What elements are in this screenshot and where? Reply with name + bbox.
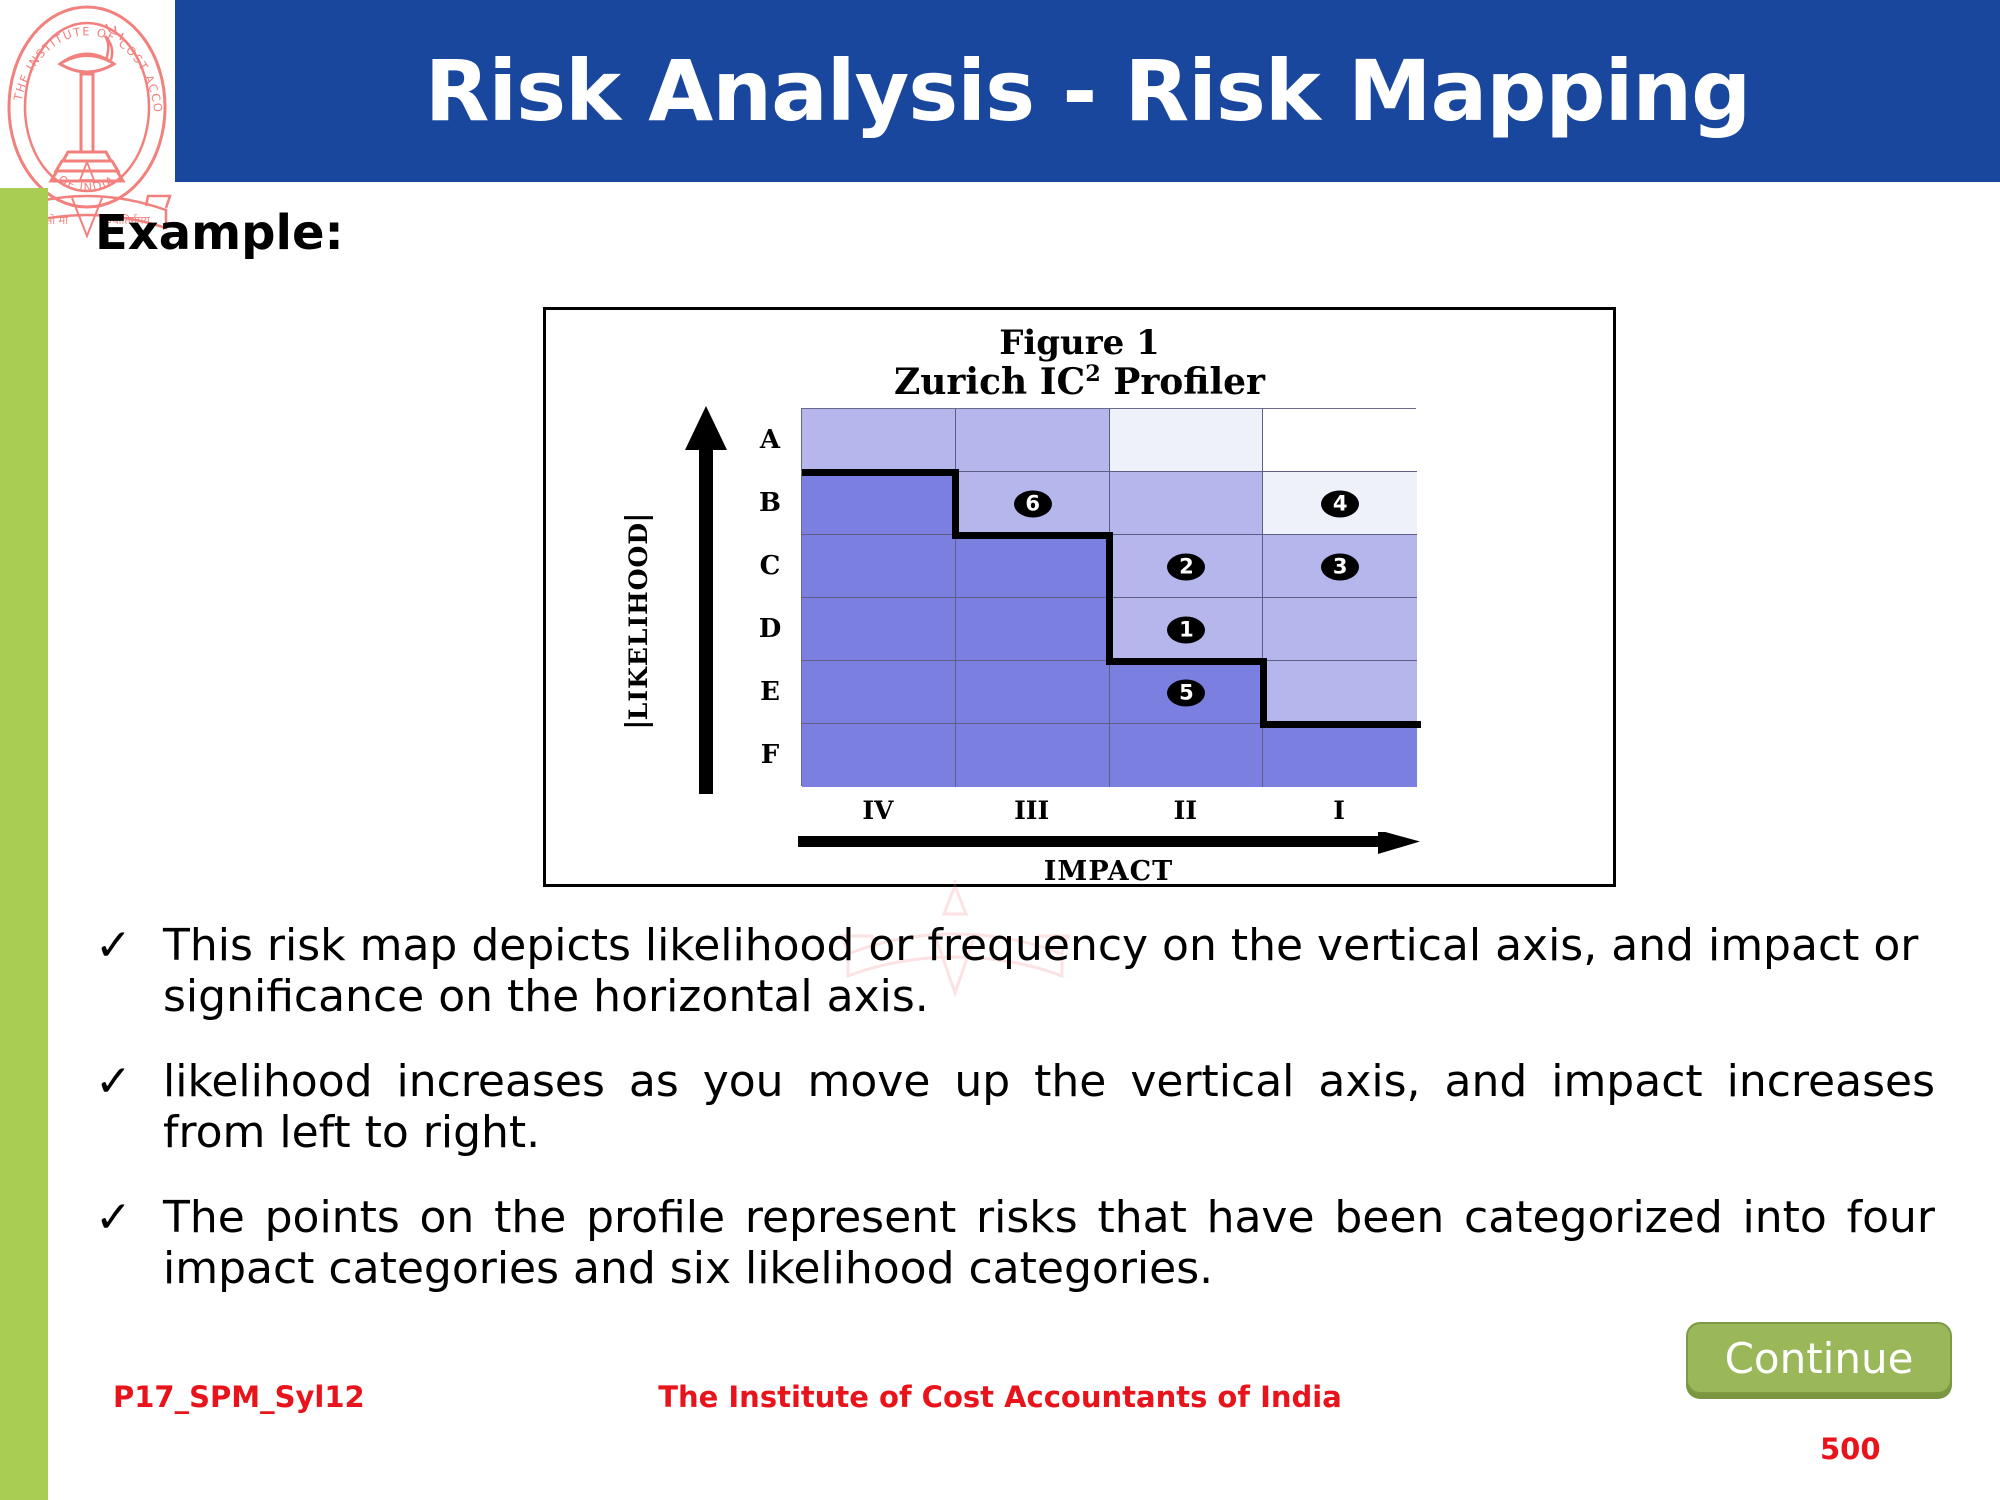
- row-label-C: C: [746, 534, 794, 597]
- matrix-cell-B-IV: [802, 472, 956, 535]
- risk-marker-2: 2: [1167, 553, 1205, 580]
- slide-header-bar: Risk Analysis - Risk Mapping: [175, 0, 2000, 182]
- figure-title: Figure 1 Zurich IC2 Profiler: [546, 324, 1613, 402]
- likelihood-row-labels: ABCDEF: [746, 408, 794, 786]
- x-axis-label: IMPACT: [801, 856, 1416, 887]
- profile-line-horizontal: [802, 469, 959, 476]
- profile-line-horizontal: [1110, 658, 1267, 665]
- matrix-cell-C-III: [956, 535, 1110, 598]
- figure-title-line2-pre: Zurich IC: [894, 361, 1085, 403]
- footer-institute-name: The Institute of Cost Accountants of Ind…: [0, 1380, 2000, 1414]
- row-label-D: D: [746, 597, 794, 660]
- svg-text:OF INDIA: OF INDIA: [56, 172, 118, 194]
- impact-axis-arrow-icon: [798, 832, 1420, 854]
- risk-marker-3: 3: [1321, 553, 1359, 580]
- matrix-cell-A-I: [1263, 409, 1417, 472]
- check-icon: ✓: [95, 920, 163, 1022]
- matrix-cell-F-III: [956, 724, 1110, 787]
- matrix-cell-A-II: [1110, 409, 1264, 472]
- row-label-A: A: [746, 408, 794, 471]
- column-label-III: III: [955, 790, 1109, 830]
- risk-marker-4: 4: [1321, 490, 1359, 517]
- y-axis-label: LIKELIHOOD: [624, 516, 653, 726]
- matrix-cell-E-IV: [802, 661, 956, 724]
- matrix-cell-E-III: [956, 661, 1110, 724]
- risk-map-figure: Figure 1 Zurich IC2 Profiler LIKELIHOOD …: [543, 307, 1616, 887]
- profile-line-horizontal: [1263, 721, 1420, 728]
- matrix-cell-D-IV: [802, 598, 956, 661]
- matrix-cell-A-IV: [802, 409, 956, 472]
- matrix-cell-F-IV: [802, 724, 956, 787]
- matrix-cell-D-III: [956, 598, 1110, 661]
- bullet-item-3: ✓ The points on the profile represent ri…: [95, 1192, 1935, 1294]
- profile-line-vertical: [1106, 532, 1113, 665]
- column-label-II: II: [1109, 790, 1263, 830]
- column-label-IV: IV: [801, 790, 955, 830]
- row-label-B: B: [746, 471, 794, 534]
- matrix-cell-D-I: [1263, 598, 1417, 661]
- page-title: Risk Analysis - Risk Mapping: [175, 0, 2000, 182]
- left-accent-bar: [0, 188, 48, 1500]
- likelihood-axis-arrow-icon: [683, 406, 729, 794]
- bullet-text-1: This risk map depicts likelihood or freq…: [163, 920, 1935, 1022]
- check-icon: ✓: [95, 1056, 163, 1158]
- bullet-text-3: The points on the profile represent risk…: [163, 1192, 1935, 1294]
- footer-page-number: 500: [1820, 1432, 1881, 1466]
- figure-title-superscript: 2: [1085, 361, 1101, 387]
- risk-marker-6: 6: [1014, 490, 1052, 517]
- profile-line-vertical: [1260, 658, 1267, 728]
- row-label-E: E: [746, 660, 794, 723]
- row-label-F: F: [746, 723, 794, 786]
- bullet-item-1: ✓ This risk map depicts likelihood or fr…: [95, 920, 1935, 1022]
- matrix-cell-B-II: [1110, 472, 1264, 535]
- matrix-cell-A-III: [956, 409, 1110, 472]
- impact-column-labels: IVIIIIII: [801, 790, 1416, 830]
- bullet-item-2: ✓ likelihood increases as you move up th…: [95, 1056, 1935, 1158]
- example-heading: Example:: [95, 205, 344, 261]
- bullet-list: ✓ This risk map depicts likelihood or fr…: [95, 920, 1935, 1328]
- figure-title-line1: Figure 1: [546, 324, 1613, 362]
- matrix-cell-F-II: [1110, 724, 1264, 787]
- column-label-I: I: [1262, 790, 1416, 830]
- profile-line-vertical: [952, 469, 959, 539]
- figure-title-line2: Zurich IC2 Profiler: [546, 362, 1613, 402]
- matrix-cell-E-I: [1263, 661, 1417, 724]
- risk-marker-5: 5: [1167, 679, 1205, 706]
- matrix-cell-C-IV: [802, 535, 956, 598]
- risk-marker-1: 1: [1167, 616, 1205, 643]
- check-icon: ✓: [95, 1192, 163, 1294]
- profile-line-horizontal: [956, 532, 1113, 539]
- figure-title-line2-post: Profiler: [1101, 361, 1265, 403]
- bullet-text-2: likelihood increases as you move up the …: [163, 1056, 1935, 1158]
- risk-matrix-grid: 642315: [801, 408, 1416, 786]
- matrix-cell-F-I: [1263, 724, 1417, 787]
